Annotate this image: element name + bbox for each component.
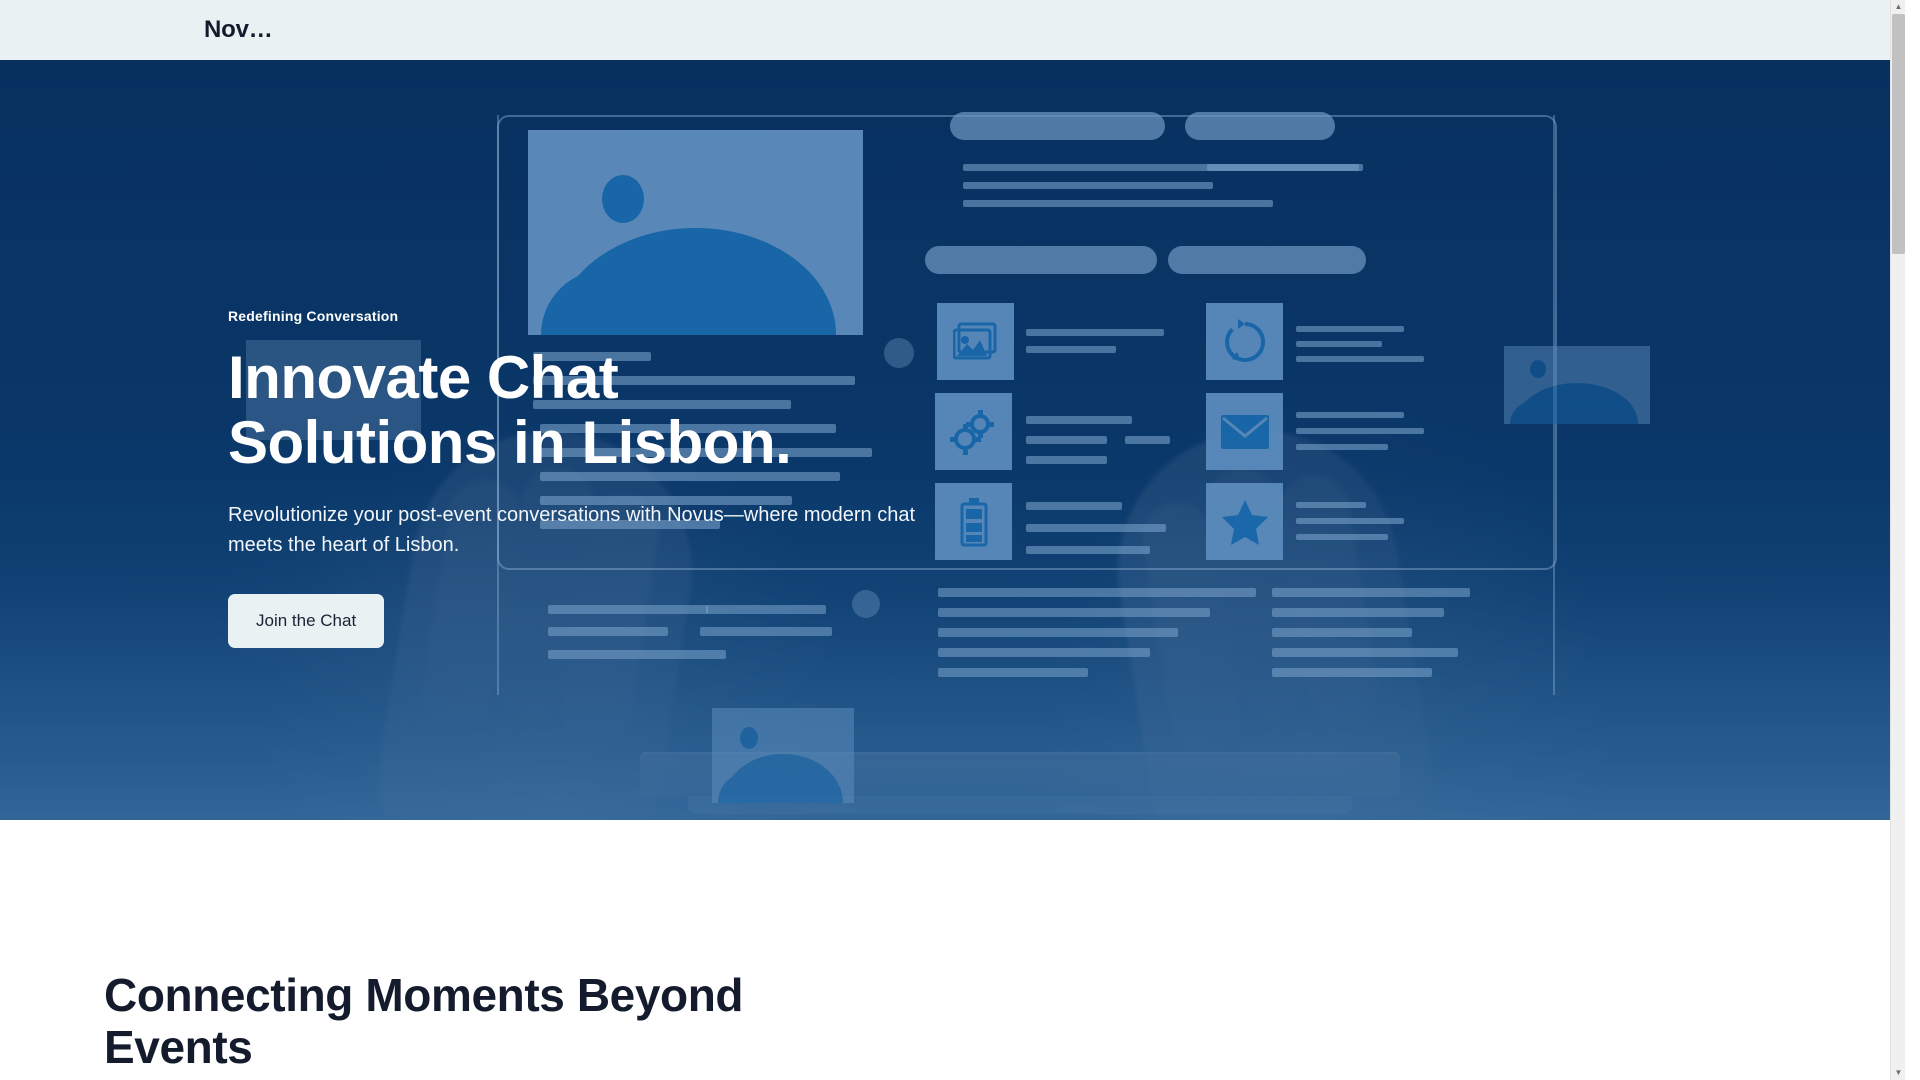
- section-title: Connecting Moments Beyond Events: [104, 970, 824, 1073]
- illustration-bar: [938, 628, 1178, 637]
- illustration-pill: [1185, 112, 1335, 140]
- browser-viewport: Nov…: [0, 0, 1905, 1080]
- illustration-bar: [938, 608, 1210, 617]
- illustration-bar: [1296, 518, 1404, 524]
- illustration-bar: [1026, 436, 1107, 444]
- illustration-pill: [1168, 246, 1366, 274]
- illustration-image-small: [712, 708, 854, 803]
- envelope-icon: [1206, 393, 1283, 470]
- illustration-bar: [938, 668, 1088, 677]
- illustration-bar: [1272, 668, 1432, 677]
- illustration-bar: [1296, 502, 1366, 508]
- connecting-moments-section: Connecting Moments Beyond Events: [0, 820, 1905, 1073]
- illustration-bar: [1272, 628, 1412, 637]
- illustration-image-large: [528, 130, 863, 335]
- illustration-bar: [938, 588, 1256, 597]
- hero-subtitle: Revolutionize your post-event conversati…: [228, 500, 918, 560]
- brand-logo[interactable]: Nov…: [204, 16, 273, 44]
- hero-title-line-1: Innovate Chat: [228, 344, 618, 411]
- illustration-bar: [938, 648, 1150, 657]
- illustration-bar: [1296, 341, 1382, 347]
- illustration-bar: [1026, 546, 1150, 554]
- illustration-image-right: [1504, 346, 1650, 424]
- hero-eyebrow: Redefining Conversation: [228, 308, 948, 324]
- illustration-bar: [963, 200, 1273, 207]
- illustration-bar: [1026, 416, 1132, 424]
- illustration-pill: [925, 246, 1157, 274]
- illustration-bar: [1207, 164, 1359, 171]
- sync-icon: [1206, 303, 1283, 380]
- star-icon: [1206, 483, 1283, 560]
- illustration-bar: [1026, 329, 1164, 336]
- illustration-bar: [1026, 346, 1116, 353]
- hero-title: Innovate Chat Solutions in Lisbon.: [228, 346, 948, 476]
- hero-section: Redefining Conversation Innovate Chat So…: [0, 60, 1905, 820]
- illustration-bar: [1272, 648, 1458, 657]
- illustration-bar: [1026, 524, 1166, 532]
- illustration-bar: [1296, 356, 1424, 362]
- illustration-pill: [950, 112, 1165, 140]
- join-the-chat-button[interactable]: Join the Chat: [228, 594, 384, 648]
- scroll-down-arrow-icon[interactable]: ▼: [1891, 1066, 1905, 1080]
- illustration-bar: [1296, 444, 1388, 450]
- scrollbar-thumb[interactable]: [1892, 14, 1905, 254]
- illustration-bar: [963, 182, 1213, 189]
- illustration-bar: [1296, 428, 1424, 434]
- illustration-bar: [1272, 588, 1470, 597]
- illustration-bar: [1296, 412, 1404, 418]
- hero-title-line-2: Solutions in Lisbon.: [228, 409, 791, 476]
- illustration-bar: [548, 650, 726, 659]
- illustration-bar: [1296, 326, 1404, 332]
- site-header: Nov…: [0, 0, 1905, 60]
- hero-copy: Redefining Conversation Innovate Chat So…: [228, 308, 948, 648]
- image-icon: [937, 303, 1014, 380]
- illustration-bar: [1026, 456, 1107, 464]
- illustration-bar: [1272, 608, 1444, 617]
- illustration-bar: [1125, 436, 1170, 444]
- vertical-scrollbar[interactable]: ▲ ▼: [1890, 0, 1905, 1080]
- scroll-up-arrow-icon[interactable]: ▲: [1891, 0, 1905, 14]
- illustration-bar: [1296, 534, 1388, 540]
- illustration-bar: [1026, 502, 1122, 510]
